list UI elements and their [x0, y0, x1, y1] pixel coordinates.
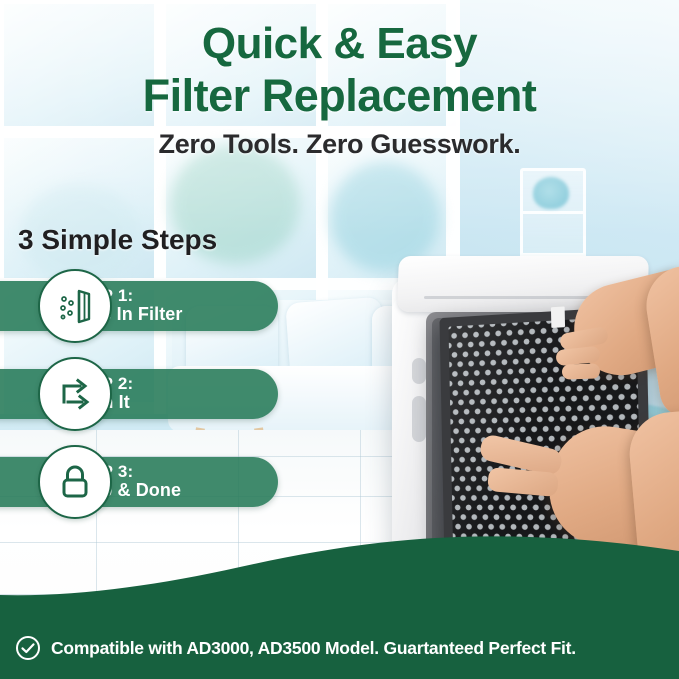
- lock-icon: [38, 445, 112, 519]
- headline-block: Quick & Easy Filter Replacement Zero Too…: [0, 22, 679, 160]
- compatibility-footer: Compatible with AD3000, AD3500 Model. Gu…: [0, 617, 679, 679]
- filter-panel-icon: [38, 269, 112, 343]
- check-circle-icon: [15, 635, 41, 661]
- product-infographic: Quick & Easy Filter Replacement Zero Too…: [0, 0, 679, 679]
- steps-section-title: 3 Simple Steps: [18, 224, 217, 256]
- headline-line-1: Quick & Easy: [0, 22, 679, 66]
- align-arrows-icon: [38, 357, 112, 431]
- headline-line-2: Filter Replacement: [0, 73, 679, 118]
- compatibility-text: Compatible with AD3000, AD3500 Model. Gu…: [51, 638, 576, 659]
- headline-subtitle: Zero Tools. Zero Guesswork.: [0, 129, 679, 160]
